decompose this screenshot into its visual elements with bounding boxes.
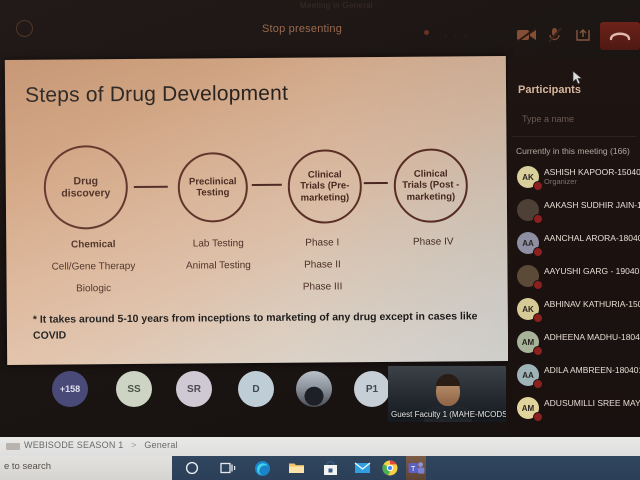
task-view-icon[interactable] — [218, 458, 238, 478]
slide-title: Steps of Drug Development — [25, 82, 288, 108]
list-item[interactable]: AK ASHISH KAPOOR-150401 Organizer — [508, 162, 640, 195]
node-label-line: marketing) — [296, 192, 353, 204]
participant-name: AANCHAL ARORA-180401 — [544, 233, 640, 243]
breadcrumb: WEBISODE SEASON 1 > General — [0, 437, 640, 456]
list-item[interactable]: AAYUSHI GARG - 1904010 — [508, 261, 640, 294]
flow-node-preclinical-testing: PreclinicalTesting — [178, 152, 249, 223]
node-label-line: Clinical — [296, 169, 353, 181]
window-badge-icon — [16, 20, 33, 37]
column-item: Chemical — [28, 234, 158, 257]
column-item: Cell/Gene Therapy — [28, 256, 158, 279]
recording-indicator-icon — [424, 30, 429, 35]
column-clinical-pre: Phase I Phase II Phase III — [274, 232, 371, 299]
search-placeholder: e to search — [4, 461, 51, 472]
participant-name: AAKASH SUDHIR JAIN-150 — [544, 200, 640, 210]
participants-list[interactable]: AK ASHISH KAPOOR-150401 Organizer AAKASH… — [508, 162, 640, 426]
hang-up-icon[interactable] — [600, 22, 640, 50]
status-badge — [533, 181, 543, 191]
list-item[interactable]: AAKASH SUDHIR JAIN-150 — [508, 195, 640, 228]
node-label-line: Drug — [57, 175, 114, 188]
node-label-line: marketing) — [398, 191, 463, 203]
column-item: Animal Testing — [158, 255, 278, 278]
teams-icon[interactable]: T — [406, 456, 426, 480]
avatar-photo[interactable] — [296, 371, 332, 407]
avatar-sr[interactable]: SR — [176, 371, 212, 407]
taskbar-search-box[interactable]: e to search — [0, 456, 172, 480]
participant-name: ASHISH KAPOOR-150401 — [544, 167, 640, 177]
node-label-line: Preclinical — [185, 176, 241, 188]
slide-footnote: * It takes around 5-10 years from incept… — [33, 308, 485, 344]
overflow-count-avatar[interactable]: +158 — [52, 371, 88, 407]
participant-name: ADUSUMILLI SREE MAYUKH — [544, 398, 640, 408]
shared-slide: Steps of Drug Development Drugdiscovery … — [5, 56, 508, 365]
status-badge — [533, 346, 543, 356]
column-item: Phase II — [274, 254, 370, 277]
participant-role: Organizer — [544, 177, 577, 186]
status-badge — [533, 280, 543, 290]
participant-name: ADILA AMBREEN-1804010 — [544, 365, 640, 375]
flow-connector — [364, 182, 388, 184]
participants-panel: Participants Type a name Currently in th… — [508, 58, 640, 437]
cortana-icon[interactable] — [182, 458, 202, 478]
participants-header: Participants — [518, 84, 581, 96]
flow-connector — [134, 186, 168, 188]
status-badge — [533, 379, 543, 389]
video-person-hair — [436, 374, 460, 386]
node-label-line: Testing — [185, 187, 241, 199]
list-item[interactable]: AA AANCHAL ARORA-180401 — [508, 228, 640, 261]
avatar-p1[interactable]: P1 — [354, 371, 390, 407]
list-item[interactable]: AA ADILA AMBREEN-1804010 — [508, 360, 640, 393]
status-badge — [533, 247, 543, 257]
flow-node-clinical-trials-post: ClinicalTrials (Post -marketing) — [394, 148, 469, 223]
share-tray-icon[interactable] — [574, 27, 596, 45]
teams-meeting-window: Meeting in General Stop presenting · · ·… — [0, 0, 640, 437]
avatar-d[interactable]: D — [238, 371, 274, 407]
column-item: Phase IV — [378, 231, 488, 254]
column-item: Biologic — [29, 278, 159, 301]
more-options-icon[interactable]: · · · — [444, 30, 470, 41]
column-clinical-post: Phase IV — [378, 231, 488, 254]
video-tile-label: Guest Faculty 1 (MAHE-MCODS — [391, 410, 506, 419]
process-flow-diagram: Drugdiscovery PreclinicalTesting Clinica… — [6, 144, 508, 230]
mic-off-icon[interactable] — [546, 27, 568, 45]
team-avatar-icon — [6, 443, 20, 450]
stop-presenting-button[interactable]: Stop presenting — [262, 23, 342, 35]
panel-divider — [512, 136, 636, 137]
edge-icon[interactable] — [252, 458, 272, 478]
slide-columns: Chemical Cell/Gene Therapy Biologic Lab … — [6, 231, 508, 305]
breadcrumb-channel[interactable]: General — [144, 440, 177, 450]
participant-name: AAYUSHI GARG - 1904010 — [544, 266, 640, 276]
breadcrumb-separator: > — [126, 440, 141, 450]
status-badge — [533, 313, 543, 323]
flow-node-clinical-trials-pre: ClinicalTrials (Pre-marketing) — [288, 149, 363, 224]
avatar-ss[interactable]: SS — [116, 371, 152, 407]
camera-off-icon[interactable] — [516, 27, 538, 45]
flow-connector — [252, 184, 282, 186]
chrome-icon[interactable] — [380, 458, 400, 478]
status-badge — [533, 412, 543, 422]
file-explorer-icon[interactable] — [286, 458, 306, 478]
list-item[interactable]: AM ADHEENA MADHU-180401 — [508, 327, 640, 360]
participant-search-input[interactable]: Type a name — [516, 110, 632, 128]
column-item: Phase I — [274, 232, 370, 255]
breadcrumb-text[interactable]: WEBISODE SEASON 1 > General — [24, 440, 178, 450]
node-label-line: Clinical — [398, 169, 463, 181]
list-item[interactable]: AM ADUSUMILLI SREE MAYUKH — [508, 393, 640, 426]
flow-node-drug-discovery: Drugdiscovery — [43, 145, 128, 230]
participant-name: ABHINAV KATHURIA-1504 — [544, 299, 640, 309]
screen-photo: Meeting in General Stop presenting · · ·… — [0, 0, 640, 480]
meeting-title: Meeting in General — [300, 1, 420, 12]
participant-name: ADHEENA MADHU-180401 — [544, 332, 640, 342]
column-item: Lab Testing — [158, 233, 278, 256]
node-label-line: discovery — [57, 187, 114, 200]
node-label-line: Trials (Post - — [398, 180, 463, 192]
column-discovery: Chemical Cell/Gene Therapy Biologic — [28, 234, 159, 301]
breadcrumb-team[interactable]: WEBISODE SEASON 1 — [24, 440, 123, 450]
svg-text:T: T — [411, 466, 416, 473]
participants-section-label: Currently in this meeting (166) — [516, 146, 630, 156]
node-label-line: Trials (Pre- — [296, 181, 353, 193]
column-item: Phase III — [275, 276, 371, 299]
status-badge — [533, 214, 543, 224]
video-tile-guest-faculty[interactable]: Guest Faculty 1 (MAHE-MCODS — [388, 366, 506, 422]
list-item[interactable]: AK ABHINAV KATHURIA-1504 — [508, 294, 640, 327]
microsoft-store-icon[interactable] — [320, 458, 340, 478]
mail-icon[interactable] — [352, 458, 372, 478]
column-preclinical: Lab Testing Animal Testing — [158, 233, 278, 278]
